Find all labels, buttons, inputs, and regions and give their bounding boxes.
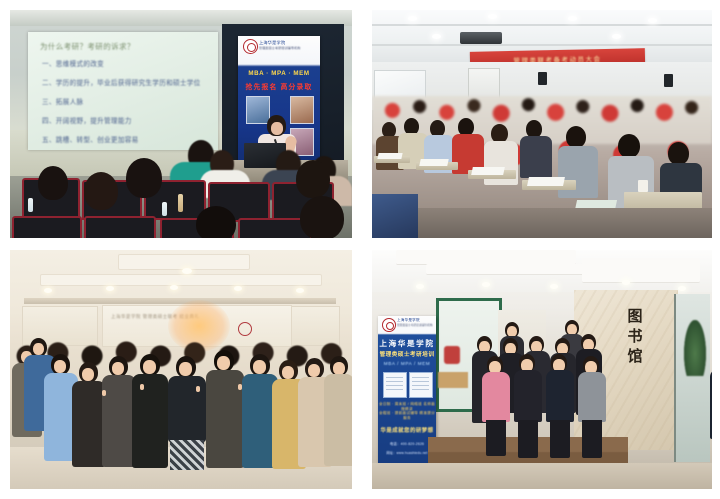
ceiling-light bbox=[416, 284, 424, 289]
photo-group-hall[interactable]: 上海华是学院 管理类硕士联考 结业典礼 bbox=[10, 250, 352, 489]
audience-head bbox=[196, 206, 236, 238]
banner-photo-2 bbox=[290, 96, 314, 124]
banner-brand-sub: 管理类硕士考研培训辅导机构 bbox=[259, 46, 301, 50]
banner-brand: 上海华是学院 bbox=[397, 318, 420, 323]
slide-item-4: 四、开阔视野，提升管理能力 bbox=[42, 115, 132, 125]
ceiling-light bbox=[488, 14, 497, 19]
slide-item-1: 一、思维模式的改变 bbox=[42, 58, 104, 68]
ceiling-light bbox=[678, 286, 686, 291]
banner-feature-2: 全程班 · 提前面试辅导 精准提分服务 bbox=[378, 411, 436, 421]
seat bbox=[12, 216, 82, 238]
audience-head bbox=[84, 172, 118, 210]
projection-screen: 为什么考研？考研的诉求？ 一、思维模式的改变 二、学历的提升，毕业后获得研究生学… bbox=[28, 32, 218, 150]
ceiling-slab bbox=[426, 264, 586, 275]
ceiling-light bbox=[182, 268, 192, 274]
ceiling-panel bbox=[40, 274, 322, 286]
audience-head bbox=[300, 196, 344, 238]
slide-item-3: 三、拓展人脉 bbox=[42, 96, 83, 106]
ceiling-light bbox=[622, 280, 630, 285]
ceiling-line bbox=[372, 44, 712, 46]
school-logo-icon bbox=[382, 318, 396, 332]
photo-group-lobby[interactable]: 图书馆 上海华是学院 管理类硕士考研培训辅导机构 上海华是学院 管理类硕士考研培… bbox=[372, 250, 712, 489]
ceiling-beam bbox=[24, 298, 336, 304]
floor bbox=[372, 208, 712, 238]
banner-programs: MBA · MPA · MEM bbox=[238, 70, 320, 77]
ceiling-line bbox=[372, 24, 712, 26]
thumbs-up-gesture bbox=[102, 390, 106, 396]
slide-item-2: 二、学历的提升，毕业后获得研究生学历和硕士学位 bbox=[42, 77, 201, 87]
slide-item-5: 五、跳槽、转型、创业更加容易 bbox=[42, 134, 139, 144]
thumbs-up-gesture bbox=[238, 384, 242, 390]
ceiling-light bbox=[612, 34, 621, 39]
ceiling-light bbox=[432, 34, 441, 39]
notebook bbox=[419, 159, 448, 166]
audience-head bbox=[296, 160, 330, 198]
distant-person bbox=[444, 346, 460, 364]
notebook bbox=[471, 167, 505, 175]
ceiling-light bbox=[296, 288, 304, 293]
banner-card-1 bbox=[383, 372, 407, 398]
speaker-face bbox=[271, 122, 283, 135]
audience-head bbox=[38, 166, 68, 200]
ceiling-light bbox=[234, 286, 242, 291]
banner-card-2 bbox=[409, 372, 433, 398]
thumbs-up-gesture bbox=[196, 386, 200, 392]
slide-title: 为什么考研？考研的诉求？ bbox=[40, 41, 135, 52]
paper-cup bbox=[638, 180, 648, 192]
ceiling-light bbox=[106, 286, 114, 291]
banner-line-1: 上海华是学院 bbox=[378, 338, 436, 349]
foreground-shape bbox=[372, 194, 418, 238]
banner-programs: MBA / MPA / MEM bbox=[378, 361, 436, 366]
reception-desk bbox=[438, 372, 468, 388]
water-bottle bbox=[28, 198, 33, 212]
notebook bbox=[527, 177, 565, 186]
banner-line-4: 华是成就您的研梦想 bbox=[378, 426, 436, 434]
banner-line-2: 管理类硕士考研培训 bbox=[378, 350, 436, 358]
calligraphy-sign: 图书馆 bbox=[624, 306, 646, 366]
ceiling-light bbox=[550, 284, 558, 289]
wall-speaker bbox=[664, 74, 673, 87]
school-logo-icon bbox=[243, 39, 258, 54]
banner-brand-sub: 管理类硕士考研培训辅导机构 bbox=[397, 323, 433, 327]
thumbs-up-gesture bbox=[140, 384, 144, 390]
indoor-plant bbox=[684, 320, 706, 376]
photo-auditorium-audience[interactable]: 管理类联考备考动员大会 bbox=[372, 10, 712, 238]
wall-speaker bbox=[538, 72, 547, 85]
ceiling-light bbox=[648, 18, 657, 23]
ceiling-light bbox=[568, 16, 577, 21]
water-bottle bbox=[178, 194, 183, 212]
seat bbox=[84, 216, 156, 238]
notebook bbox=[377, 153, 402, 159]
water-bottle bbox=[162, 202, 167, 216]
ceiling-light bbox=[482, 282, 490, 287]
ceiling-projector bbox=[460, 32, 502, 44]
ceiling-light bbox=[44, 288, 52, 293]
floor bbox=[372, 463, 712, 489]
ceiling-light bbox=[408, 16, 417, 21]
ceiling-slab bbox=[582, 258, 700, 283]
banner-slogan: 抢先报名 高分录取 bbox=[238, 81, 320, 91]
photo-lecture-slide[interactable]: 为什么考研？考研的诉求？ 一、思维模式的改变 二、学历的提升，毕业后获得研究生学… bbox=[10, 10, 352, 238]
ceiling-light bbox=[170, 285, 178, 290]
audience-head bbox=[126, 158, 162, 198]
ceiling-slab bbox=[396, 250, 576, 265]
banner-photo-1 bbox=[246, 96, 270, 124]
photo-collage: 为什么考研？考研的诉求？ 一、思维模式的改变 二、学历的提升，毕业后获得研究生学… bbox=[0, 0, 720, 499]
